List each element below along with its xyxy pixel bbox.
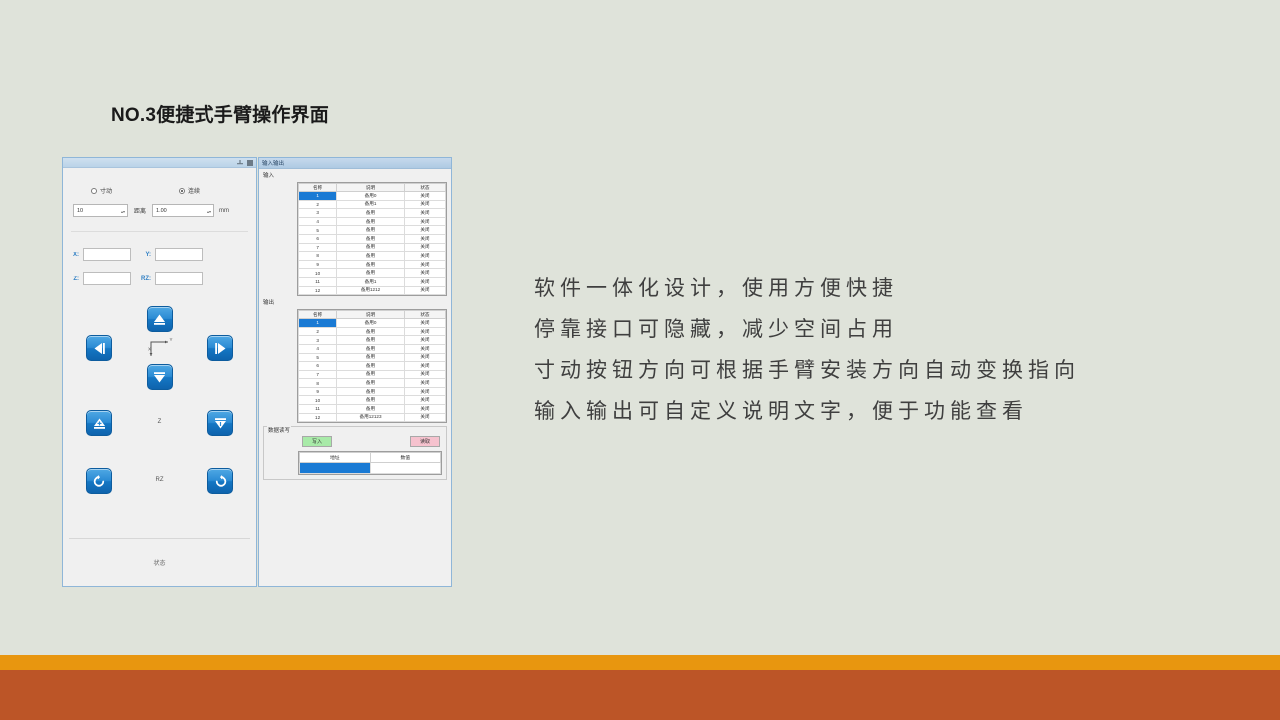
table-cell-stat: 关闭	[404, 387, 445, 396]
description-line-3: 寸动按钮方向可根据手臂安装方向自动变换指向	[534, 350, 1224, 391]
table-row[interactable]: 12备用1212关闭	[299, 286, 446, 295]
close-icon[interactable]	[247, 160, 253, 166]
write-button[interactable]: 写入	[302, 436, 332, 447]
table-cell-desc: 备用12123	[337, 413, 405, 422]
speed-spinner[interactable]: 10 ▴▾	[73, 204, 128, 217]
table-row[interactable]: 2备用关闭	[299, 327, 446, 336]
coordinate-grid: X: Y: Z: RZ:	[69, 248, 250, 296]
table-cell-name: 7	[299, 243, 337, 252]
rz-axis-label: RZ	[156, 477, 164, 483]
radio-step-mode[interactable]: 寸动	[91, 186, 112, 195]
data-col-address: 地址	[300, 453, 371, 463]
table-cell-stat: 关闭	[404, 286, 445, 295]
data-table-wrapper: 地址 数值	[298, 451, 442, 475]
jog-rz-ccw-button[interactable]	[86, 468, 112, 494]
speed-stepper-icon[interactable]: ▴▾	[120, 206, 126, 217]
table-cell-name: 1	[299, 319, 337, 328]
data-section-label: 数据读写	[267, 426, 291, 434]
jog-rz-cw-button[interactable]	[207, 468, 233, 494]
table-cell-desc: 备用	[337, 217, 405, 226]
table-cell-desc: 备用1212	[337, 286, 405, 295]
jog-control-window: 寸动 连续 10 ▴▾ 距离 1.00 ▴▾ mm	[62, 157, 257, 587]
jog-down-button[interactable]	[147, 364, 173, 390]
table-row[interactable]: 6备用关闭	[299, 362, 446, 371]
table-cell-name: 10	[299, 396, 337, 405]
table-cell-stat: 关闭	[404, 277, 445, 286]
input-col-status: 状态	[404, 184, 445, 192]
table-row[interactable]: 5备用关闭	[299, 353, 446, 362]
radio-continuous-mode[interactable]: 连续	[179, 186, 200, 195]
data-readwrite-group: 数据读写 写入 读取 地址 数值	[263, 426, 447, 480]
table-row[interactable]: 11备用关闭	[299, 405, 446, 414]
table-cell-name: 8	[299, 379, 337, 388]
io-window-titlebar: 输入输出	[259, 158, 451, 169]
table-cell-stat: 关闭	[404, 344, 445, 353]
table-row[interactable]: 2备用1关闭	[299, 200, 446, 209]
coordinate-row-zrz: Z: RZ:	[71, 272, 248, 285]
table-cell-stat: 关闭	[404, 362, 445, 371]
data-address-cell[interactable]	[300, 463, 371, 474]
io-window-title: 输入输出	[262, 159, 284, 167]
table-cell-name: 12	[299, 286, 337, 295]
unit-label: mm	[219, 208, 229, 214]
input-table-header-row: 名称 说明 状态	[299, 184, 446, 192]
distance-label: 距离	[134, 206, 146, 215]
arrow-up-plus-icon	[92, 416, 107, 431]
status-label: 状态	[153, 558, 165, 567]
table-cell-desc: 备用0	[337, 192, 405, 201]
xy-jog-pad: Y X	[69, 306, 250, 398]
jog-up-button[interactable]	[147, 306, 173, 332]
page-title: NO.3便捷式手臂操作界面	[111, 100, 329, 127]
coord-label-rz: RZ:	[137, 276, 151, 282]
table-cell-stat: 关闭	[404, 252, 445, 261]
output-table-header-row: 名称 说明 状态	[299, 311, 446, 319]
description-line-1: 软件一体化设计，使用方便快捷	[534, 268, 1224, 309]
table-cell-stat: 关闭	[404, 269, 445, 278]
table-cell-name: 5	[299, 226, 337, 235]
distance-spinner[interactable]: 1.00 ▴▾	[152, 204, 214, 217]
table-cell-name: 1	[299, 192, 337, 201]
table-cell-desc: 备用	[337, 362, 405, 371]
table-row[interactable]: 11备用1关闭	[299, 277, 446, 286]
table-cell-desc: 备用	[337, 252, 405, 261]
table-cell-stat: 关闭	[404, 217, 445, 226]
input-table: 名称 说明 状态 1备用0关闭2备用1关闭3备用关闭4备用关闭5备用关闭6备用关…	[298, 183, 446, 295]
coordinate-row-xy: X: Y:	[71, 248, 248, 261]
description-text-block: 软件一体化设计，使用方便快捷 停靠接口可隐藏，减少空间占用 寸动按钮方向可根据手…	[534, 268, 1224, 432]
table-cell-desc: 备用	[337, 405, 405, 414]
table-cell-name: 11	[299, 405, 337, 414]
table-cell-name: 7	[299, 370, 337, 379]
table-cell-stat: 关闭	[404, 319, 445, 328]
table-cell-desc: 备用	[337, 387, 405, 396]
io-window: 输入输出 输入 名称 说明 状态 1备用0关闭2备用1关闭3备用关闭4备用关闭5…	[258, 157, 452, 587]
coord-label-x: X:	[71, 252, 79, 258]
jog-window-titlebar	[63, 158, 256, 168]
data-col-value: 数值	[370, 453, 441, 463]
table-row[interactable]: 5备用关闭	[299, 226, 446, 235]
table-cell-stat: 关闭	[404, 336, 445, 345]
table-cell-desc: 备用	[337, 260, 405, 269]
table-row[interactable]: 1备用0关闭	[299, 192, 446, 201]
table-row[interactable]: 7备用关闭	[299, 370, 446, 379]
description-line-4: 输入输出可自定义说明文字，便于功能查看	[534, 391, 1224, 432]
table-cell-stat: 关闭	[404, 370, 445, 379]
jog-parameter-row: 10 ▴▾ 距离 1.00 ▴▾ mm	[69, 204, 250, 217]
radio-continuous-label: 连续	[188, 186, 200, 195]
table-cell-desc: 备用	[337, 269, 405, 278]
table-cell-name: 4	[299, 344, 337, 353]
table-cell-name: 10	[299, 269, 337, 278]
brick-footer-band	[0, 670, 1280, 720]
coord-input-y[interactable]	[155, 248, 203, 261]
radio-continuous-dot	[179, 188, 185, 194]
output-table-wrapper: 名称 说明 状态 1备用0关闭2备用关闭3备用关闭4备用关闭5备用关闭6备用关闭…	[297, 309, 447, 423]
table-row[interactable]: 1备用0关闭	[299, 319, 446, 328]
pin-icon[interactable]	[237, 160, 243, 166]
coord-input-x[interactable]	[83, 248, 131, 261]
output-table-body: 1备用0关闭2备用关闭3备用关闭4备用关闭5备用关闭6备用关闭7备用关闭8备用关…	[299, 319, 446, 422]
table-row[interactable]: 7备用关闭	[299, 243, 446, 252]
z-axis-label: Z	[158, 419, 162, 425]
input-col-name: 名称	[299, 184, 337, 192]
radio-step-label: 寸动	[100, 186, 112, 195]
data-table-row[interactable]	[300, 463, 441, 474]
output-col-name: 名称	[299, 311, 337, 319]
read-button[interactable]: 读取	[410, 436, 440, 447]
jog-mode-row: 寸动 连续	[69, 186, 250, 195]
rotate-counterclockwise-icon	[92, 474, 107, 489]
data-value-cell[interactable]	[370, 463, 441, 474]
table-cell-desc: 备用	[337, 370, 405, 379]
input-section-label: 输入	[259, 169, 451, 180]
z-jog-pad: Z	[69, 410, 250, 468]
rotate-clockwise-icon	[213, 474, 228, 489]
data-button-row: 写入 读取	[302, 436, 440, 447]
arrow-down-icon	[152, 370, 167, 385]
table-cell-stat: 关闭	[404, 234, 445, 243]
output-section-label: 输出	[259, 296, 451, 307]
table-cell-stat: 关闭	[404, 209, 445, 218]
table-cell-desc: 备用	[337, 379, 405, 388]
table-cell-desc: 备用	[337, 353, 405, 362]
coord-label-z: Z:	[71, 276, 79, 282]
speed-value: 10	[77, 208, 83, 214]
table-cell-stat: 关闭	[404, 327, 445, 336]
output-col-desc: 说明	[337, 311, 405, 319]
coord-input-z[interactable]	[83, 272, 131, 285]
table-cell-name: 2	[299, 200, 337, 209]
table-row[interactable]: 10备用关闭	[299, 396, 446, 405]
table-cell-name: 6	[299, 362, 337, 371]
svg-text:Y: Y	[169, 337, 172, 342]
table-cell-desc: 备用	[337, 226, 405, 235]
table-cell-name: 8	[299, 252, 337, 261]
table-cell-desc: 备用1	[337, 200, 405, 209]
radio-step-dot	[91, 188, 97, 194]
svg-text:X: X	[148, 347, 151, 352]
table-cell-stat: 关闭	[404, 243, 445, 252]
data-table-header-row: 地址 数值	[300, 453, 441, 463]
jog-left-button[interactable]	[86, 335, 112, 361]
table-row[interactable]: 3备用关闭	[299, 336, 446, 345]
table-cell-name: 12	[299, 413, 337, 422]
table-row[interactable]: 8备用关闭	[299, 379, 446, 388]
table-cell-desc: 备用	[337, 234, 405, 243]
application-screenshot: 寸动 连续 10 ▴▾ 距离 1.00 ▴▾ mm	[62, 157, 452, 587]
table-cell-name: 4	[299, 217, 337, 226]
table-cell-name: 3	[299, 209, 337, 218]
table-cell-stat: 关闭	[404, 405, 445, 414]
arrow-up-icon	[152, 312, 167, 327]
table-row[interactable]: 10备用关闭	[299, 269, 446, 278]
table-cell-desc: 备用	[337, 336, 405, 345]
jog-right-button[interactable]	[207, 335, 233, 361]
coord-label-y: Y:	[137, 252, 151, 258]
table-cell-desc: 备用	[337, 327, 405, 336]
table-row[interactable]: 6备用关闭	[299, 234, 446, 243]
input-table-wrapper: 名称 说明 状态 1备用0关闭2备用1关闭3备用关闭4备用关闭5备用关闭6备用关…	[297, 182, 447, 296]
output-table: 名称 说明 状态 1备用0关闭2备用关闭3备用关闭4备用关闭5备用关闭6备用关闭…	[298, 310, 446, 422]
table-cell-desc: 备用1	[337, 277, 405, 286]
table-row[interactable]: 12备用12123关闭	[299, 413, 446, 422]
table-cell-desc: 备用0	[337, 319, 405, 328]
table-cell-name: 9	[299, 260, 337, 269]
table-cell-name: 2	[299, 327, 337, 336]
table-cell-stat: 关闭	[404, 379, 445, 388]
data-table: 地址 数值	[299, 452, 441, 474]
distance-value: 1.00	[156, 208, 167, 214]
table-cell-stat: 关闭	[404, 226, 445, 235]
table-cell-desc: 备用	[337, 396, 405, 405]
rz-jog-pad: RZ	[69, 468, 250, 520]
input-col-desc: 说明	[337, 184, 405, 192]
table-cell-name: 3	[299, 336, 337, 345]
table-row[interactable]: 8备用关闭	[299, 252, 446, 261]
jog-z-up-button[interactable]	[86, 410, 112, 436]
table-cell-stat: 关闭	[404, 413, 445, 422]
distance-stepper-icon[interactable]: ▴▾	[206, 206, 212, 217]
table-row[interactable]: 4备用关闭	[299, 344, 446, 353]
table-cell-name: 5	[299, 353, 337, 362]
table-row[interactable]: 4备用关闭	[299, 217, 446, 226]
table-cell-desc: 备用	[337, 344, 405, 353]
table-cell-desc: 备用	[337, 243, 405, 252]
table-cell-stat: 关闭	[404, 260, 445, 269]
output-col-status: 状态	[404, 311, 445, 319]
amber-accent-band	[0, 655, 1280, 668]
status-bar: 状态	[69, 538, 250, 586]
table-cell-stat: 关闭	[404, 200, 445, 209]
table-cell-name: 6	[299, 234, 337, 243]
coord-input-rz[interactable]	[155, 272, 203, 285]
table-cell-desc: 备用	[337, 209, 405, 218]
axis-orientation-icon: Y X	[146, 336, 174, 360]
table-cell-name: 11	[299, 277, 337, 286]
description-line-2: 停靠接口可隐藏，减少空间占用	[534, 309, 1224, 350]
input-table-body: 1备用0关闭2备用1关闭3备用关闭4备用关闭5备用关闭6备用关闭7备用关闭8备用…	[299, 192, 446, 295]
arrow-down-minus-icon	[213, 416, 228, 431]
table-cell-name: 9	[299, 387, 337, 396]
jog-z-down-button[interactable]	[207, 410, 233, 436]
table-cell-stat: 关闭	[404, 396, 445, 405]
table-row[interactable]: 9备用关闭	[299, 260, 446, 269]
table-row[interactable]: 3备用关闭	[299, 209, 446, 218]
table-cell-stat: 关闭	[404, 353, 445, 362]
arrow-right-icon	[213, 341, 228, 356]
arrow-left-icon	[92, 341, 107, 356]
jog-window-body: 寸动 连续 10 ▴▾ 距离 1.00 ▴▾ mm	[63, 168, 256, 586]
table-row[interactable]: 9备用关闭	[299, 387, 446, 396]
divider	[71, 231, 248, 232]
table-cell-stat: 关闭	[404, 192, 445, 201]
